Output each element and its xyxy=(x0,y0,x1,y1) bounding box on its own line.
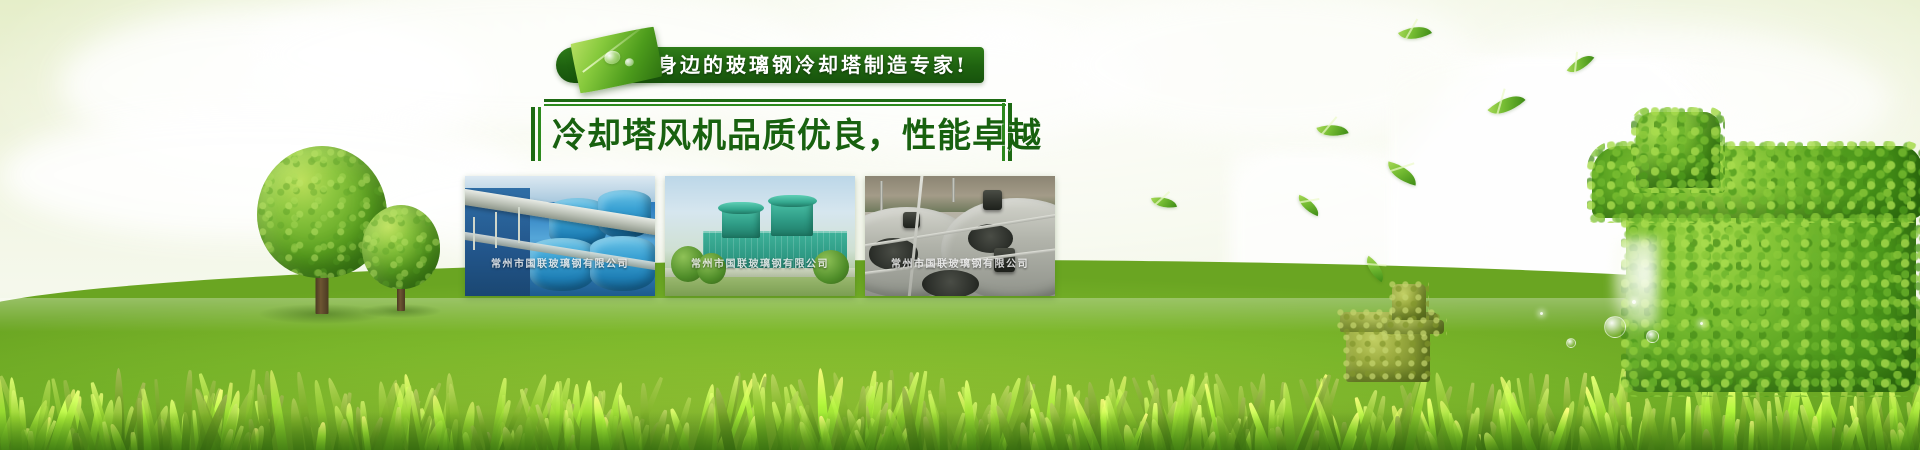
photo-rail xyxy=(495,212,497,248)
photo-grey-cooling-tower-motors[interactable]: 常州市国联玻璃钢有限公司 xyxy=(865,176,1055,296)
light-pole xyxy=(880,181,883,210)
photo-teal-cooling-towers-factory[interactable]: 常州市国联玻璃钢有限公司 xyxy=(665,176,855,296)
promo-banner: 您身边的玻璃钢冷却塔制造专家! 冷却塔风机品质优良，性能卓越 xyxy=(0,0,1920,450)
tree-foliage-texture xyxy=(362,205,440,289)
headline-bar-left-inner xyxy=(538,107,541,161)
headline-text: 冷却塔风机品质优良，性能卓越 xyxy=(552,105,992,159)
sparkle xyxy=(1540,312,1543,315)
house-texture xyxy=(1381,317,1447,337)
subtitle-badge: 您身边的玻璃钢冷却塔制造专家! xyxy=(556,44,984,86)
cooling-tower-top xyxy=(768,195,817,207)
sparkle xyxy=(1700,322,1703,325)
cooling-tower-top xyxy=(718,202,764,214)
small-grass-house xyxy=(1340,280,1458,384)
photo-tree xyxy=(813,250,849,284)
fan-opening xyxy=(922,270,979,296)
water-drop-icon xyxy=(624,57,635,67)
grass-topiary-house xyxy=(1540,88,1920,388)
photo-blue-frp-tank-line[interactable]: 常州市国联玻璃钢有限公司 xyxy=(465,176,655,296)
bubble xyxy=(1604,316,1626,338)
tree-canopy xyxy=(362,205,440,289)
light-pole xyxy=(952,178,955,202)
bubble xyxy=(1566,338,1576,348)
fan-motor xyxy=(983,190,1002,209)
photo-rail xyxy=(473,217,475,251)
water-drop-icon xyxy=(603,49,622,65)
photo-tree xyxy=(697,253,726,284)
sparkle xyxy=(1632,300,1636,304)
fan-motor xyxy=(994,248,1015,272)
topiary-cutout xyxy=(1612,238,1658,328)
topiary-texture xyxy=(1631,107,1725,193)
photo-rail xyxy=(518,207,520,243)
headline-bar-left xyxy=(531,107,535,161)
product-photo-strip: 常州市国联玻璃钢有限公司 常州市国联玻璃钢有限公司 xyxy=(465,176,1055,296)
small-house-eave xyxy=(1384,320,1444,334)
topiary-chimney xyxy=(1636,112,1720,188)
headline-block: 冷却塔风机品质优良，性能卓越 xyxy=(520,99,1020,161)
subtitle-text: 您身边的玻璃钢冷却塔制造专家! xyxy=(634,47,968,83)
small-round-topiary-tree xyxy=(362,205,440,311)
grass-shadow xyxy=(0,412,1920,450)
bubble xyxy=(1646,330,1659,343)
headline-rule-top xyxy=(544,99,1006,102)
